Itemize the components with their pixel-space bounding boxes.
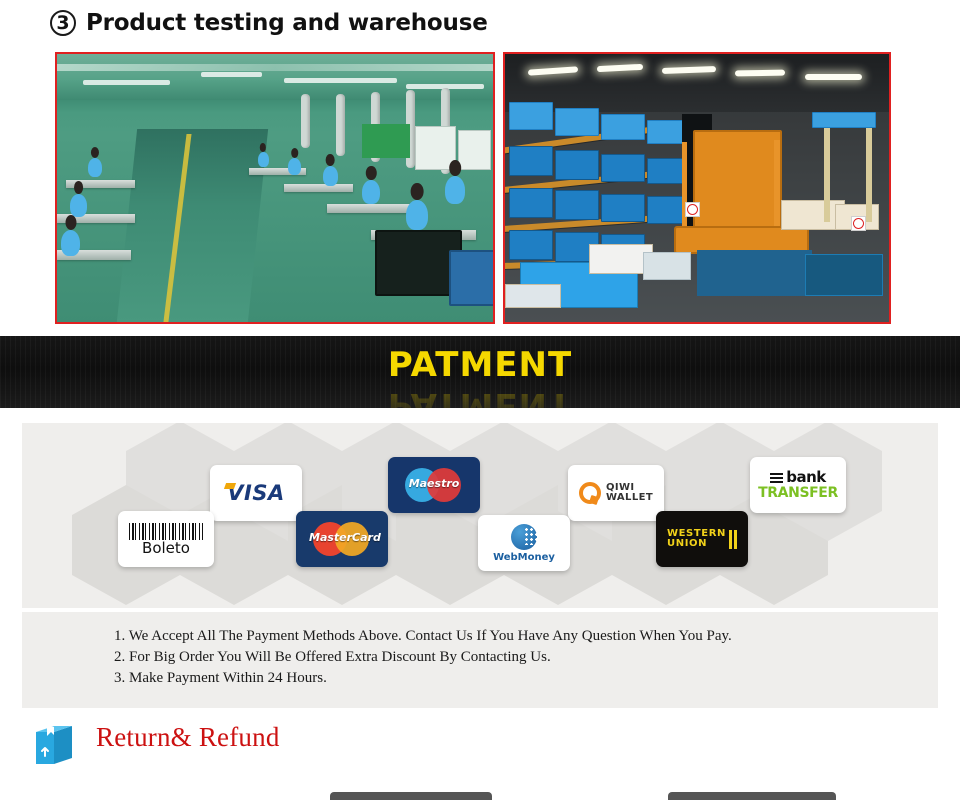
step-number-badge: 3 — [50, 10, 76, 36]
payment-method-webmoney[interactable]: WebMoney — [478, 515, 570, 571]
payment-term-1: 1. We Accept All The Payment Methods Abo… — [114, 626, 938, 647]
payment-method-mastercard[interactable]: MasterCard — [296, 511, 388, 567]
page-title: Product testing and warehouse — [86, 10, 488, 36]
factory-production-line-photo — [55, 52, 495, 324]
bank-transfer-icon: bank TRANSFER — [758, 470, 838, 500]
payment-term-3: 3. Make Payment Within 24 Hours. — [114, 668, 938, 689]
factory-illustration — [57, 54, 493, 322]
bottom-bar-right — [668, 792, 836, 800]
western-union-icon: WESTERN UNION — [667, 529, 737, 549]
bottom-bar-left — [330, 792, 492, 800]
payment-terms: 1. We Accept All The Payment Methods Abo… — [22, 612, 938, 708]
payment-banner-reflection: PATMENT — [0, 388, 960, 408]
payment-term-2: 2. For Big Order You Will Be Offered Ext… — [114, 647, 938, 668]
product-detail-page: 3 Product testing and warehouse — [0, 0, 960, 800]
payment-method-boleto[interactable]: Boleto — [118, 511, 214, 567]
payment-banner: PATMENT PATMENT — [0, 336, 960, 408]
payment-method-maestro[interactable]: Maestro — [388, 457, 480, 513]
boleto-barcode-icon: Boleto — [129, 523, 203, 556]
payment-banner-title: PATMENT — [0, 336, 960, 395]
mastercard-icon: MasterCard — [309, 520, 375, 558]
visa-icon: VISA — [227, 481, 284, 505]
warehouse-illustration — [505, 54, 889, 322]
blue-box-icon — [34, 720, 78, 766]
webmoney-icon: WebMoney — [493, 524, 555, 563]
payment-method-qiwi-wallet[interactable]: QIWI WALLET — [568, 465, 664, 521]
payment-method-western-union[interactable]: WESTERN UNION — [656, 511, 748, 567]
qiwi-wallet-icon: QIWI WALLET — [579, 482, 653, 504]
payment-methods-panel: VISA Maestro QIWI WALLET bank — [22, 423, 938, 608]
payment-method-bank-transfer[interactable]: bank TRANSFER — [750, 457, 846, 513]
photo-row — [0, 52, 960, 324]
return-refund-block: Return& Refund — [0, 715, 960, 775]
return-refund-title: Return& Refund — [96, 722, 280, 753]
payment-method-visa[interactable]: VISA — [210, 465, 302, 521]
warehouse-storage-photo — [503, 52, 891, 324]
maestro-icon: Maestro — [401, 466, 467, 504]
section-header: 3 Product testing and warehouse — [0, 0, 960, 46]
